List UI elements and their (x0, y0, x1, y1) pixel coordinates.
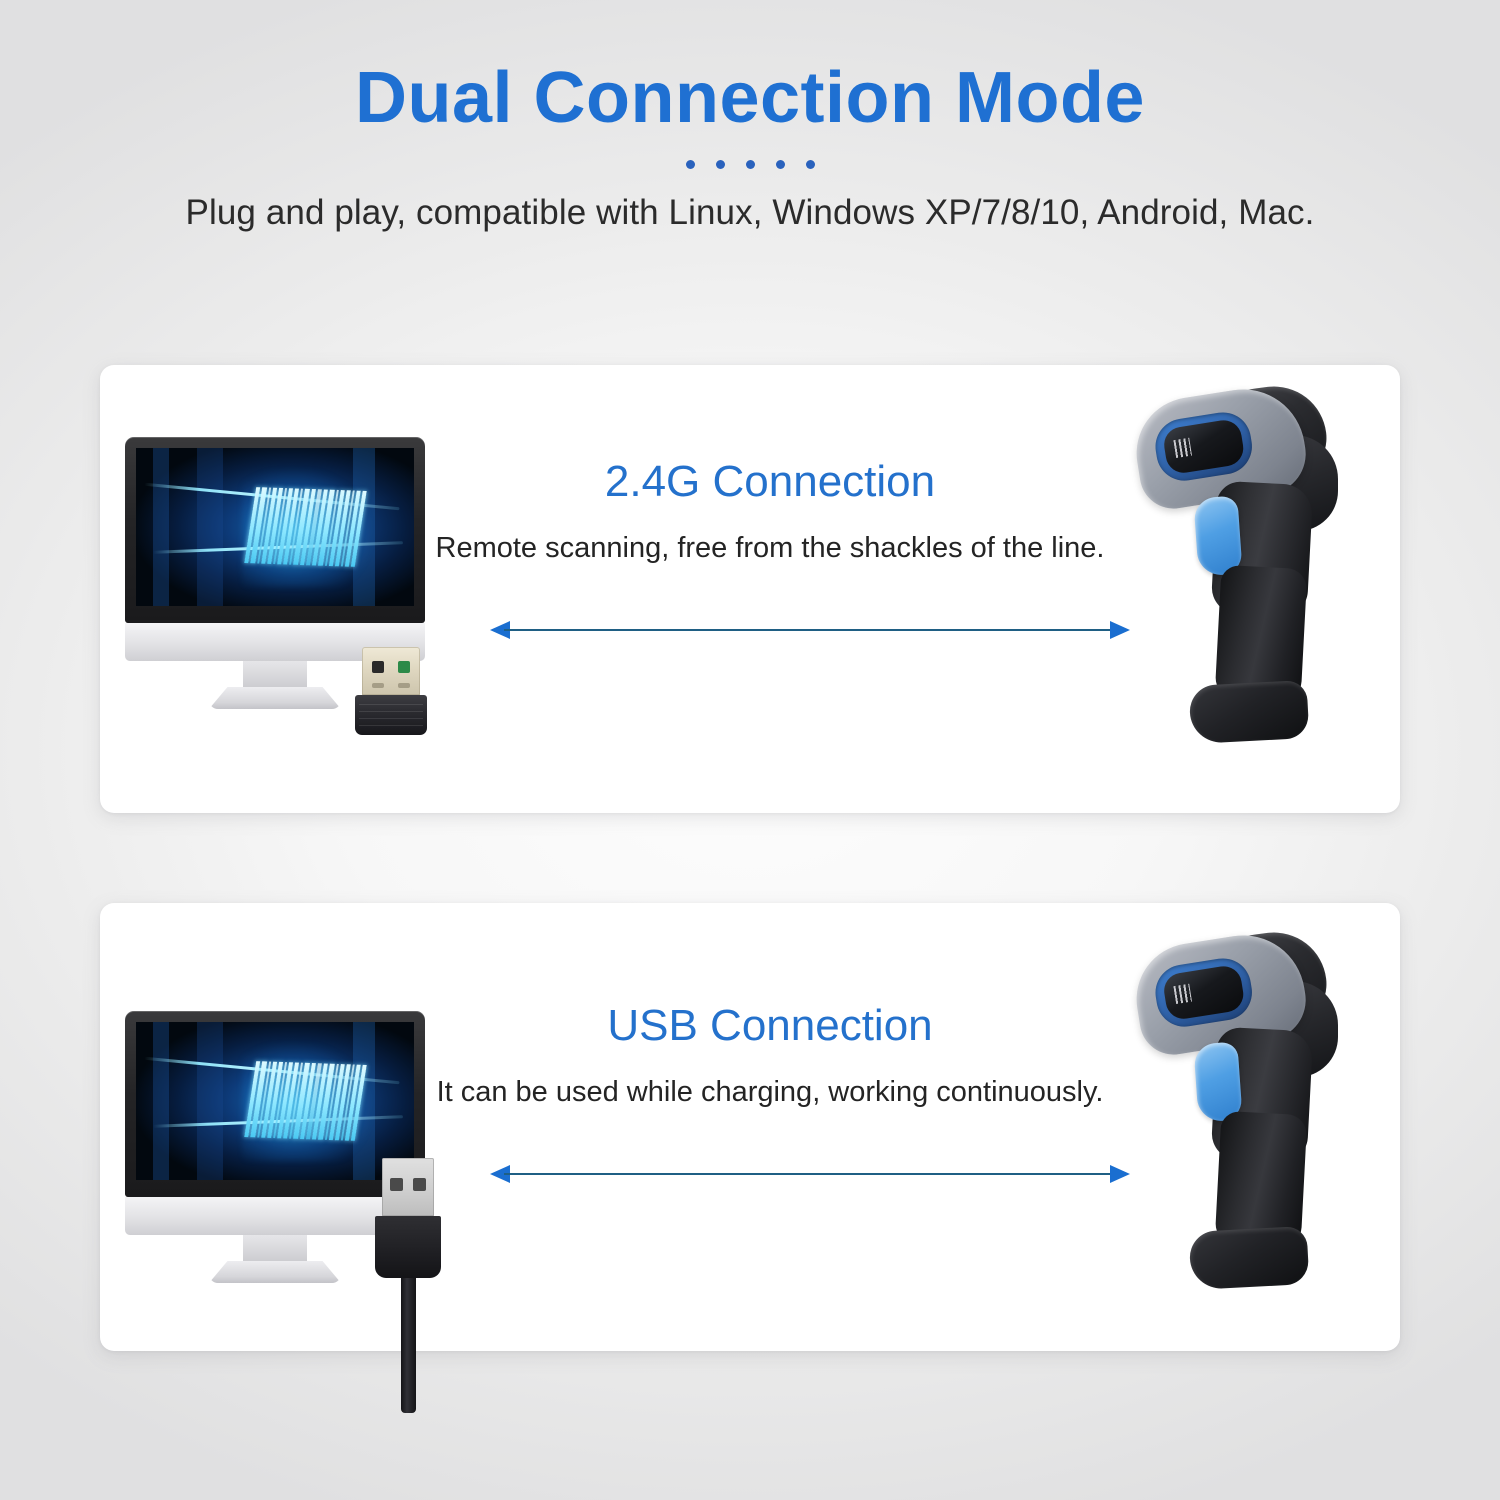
barcode-graphic (244, 1061, 367, 1141)
card-description: It can be used while charging, working c… (420, 1052, 1120, 1112)
usb-plug-icon (375, 1158, 441, 1413)
page-title: Dual Connection Mode (0, 0, 1500, 139)
monitor-neck (243, 1235, 307, 1261)
feature-card-2-4g: 2.4G Connection Remote scanning, free fr… (100, 365, 1400, 813)
feature-card-usb: USB Connection It can be used while char… (100, 903, 1400, 1351)
scanner-window (1162, 964, 1246, 1022)
scanner-window (1162, 418, 1246, 476)
separator-dot (686, 160, 695, 169)
infographic-page: Dual Connection Mode Plug and play, comp… (0, 0, 1500, 1500)
separator-dot (716, 160, 725, 169)
card-heading: USB Connection (420, 1001, 1120, 1052)
monitor-screen (136, 1022, 414, 1180)
usb-cable (401, 1278, 416, 1413)
separator-dot (746, 160, 755, 169)
monitor-foot (209, 687, 341, 709)
barcode-scanner-icon (1130, 387, 1340, 747)
monitor-screen (136, 448, 414, 606)
double-arrow-icon (490, 1161, 1130, 1187)
barcode-graphic (244, 487, 367, 567)
separator-dots (0, 155, 1500, 175)
monitor-neck (243, 661, 307, 687)
card-description: Remote scanning, free from the shackles … (420, 508, 1120, 568)
scanner-trigger (1193, 496, 1242, 577)
barcode-scanner-icon (1130, 933, 1340, 1293)
separator-dot (806, 160, 815, 169)
card-text-block: 2.4G Connection Remote scanning, free fr… (420, 457, 1120, 567)
header: Dual Connection Mode Plug and play, comp… (0, 0, 1500, 233)
usb-shell (375, 1216, 441, 1278)
dongle-connector (362, 647, 420, 695)
page-subtitle: Plug and play, compatible with Linux, Wi… (0, 175, 1500, 233)
card-heading: 2.4G Connection (420, 457, 1120, 508)
monitor-foot (209, 1261, 341, 1283)
usb-dongle-icon (355, 647, 427, 735)
card-text-block: USB Connection It can be used while char… (420, 1001, 1120, 1111)
scanner-trigger (1193, 1042, 1242, 1123)
monitor-bezel (125, 437, 425, 623)
double-arrow-icon (490, 617, 1130, 643)
usb-connector (382, 1158, 434, 1216)
dongle-body (355, 695, 427, 735)
separator-dot (776, 160, 785, 169)
